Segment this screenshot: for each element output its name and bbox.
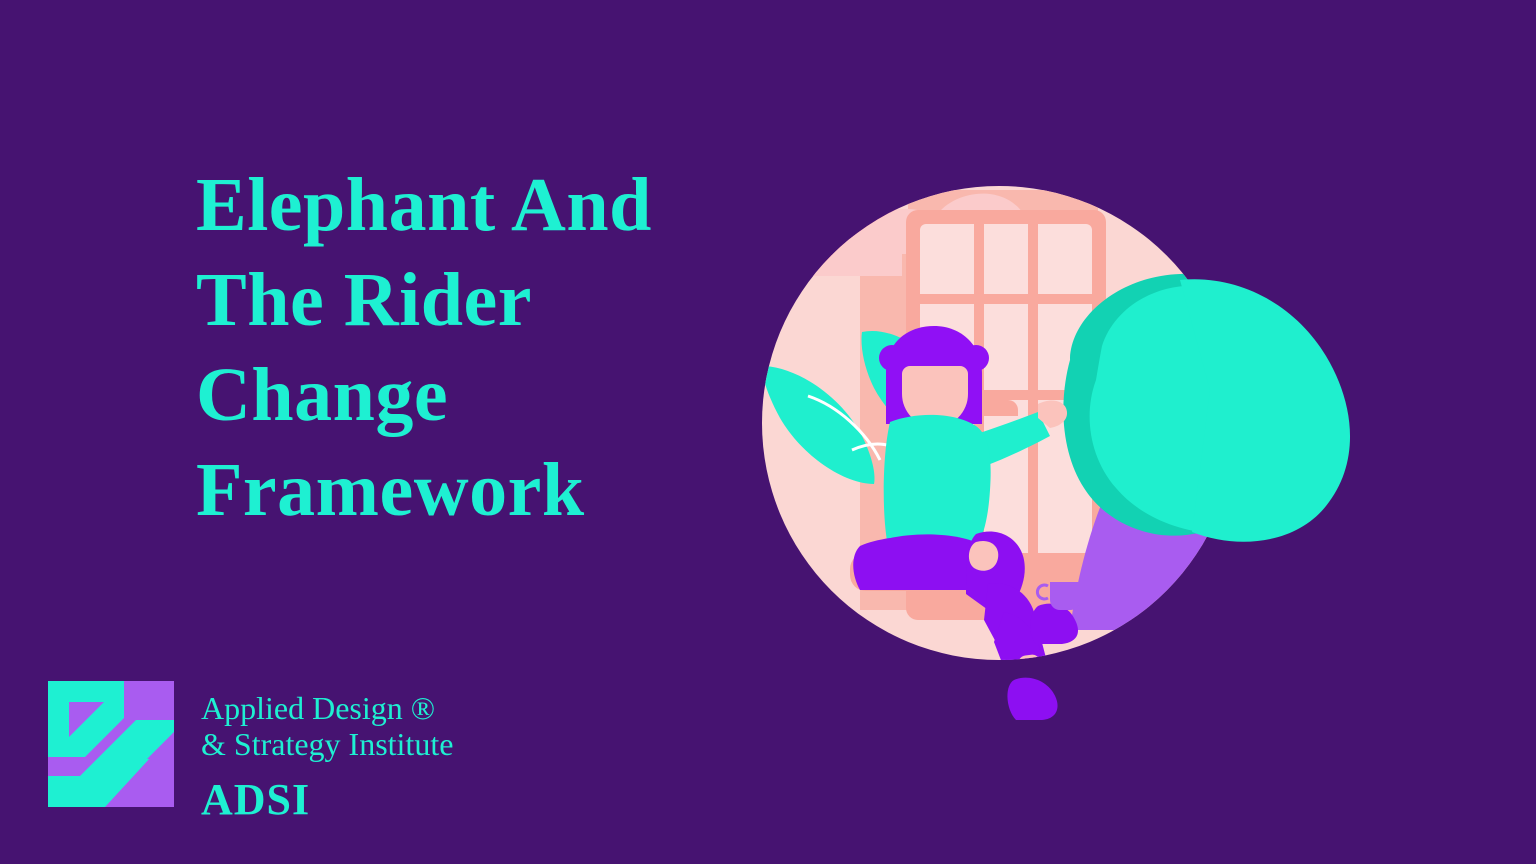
logo-acronym: ADSI [201,774,453,826]
person-on-windowsill-illustration-icon [740,150,1400,720]
logo-line-2: & Strategy Institute [201,726,453,762]
title-line-3: Change [196,348,756,443]
title-line-1: Elephant And [196,158,756,253]
cloud-lower [740,233,902,278]
person-hand-on-knee [969,541,998,571]
brand-logo: Applied Design ® & Strategy Institute AD… [48,681,453,826]
slide-canvas: Elephant And The Rider Change Framework … [0,0,1536,864]
logo-wordmark: Applied Design ® & Strategy Institute AD… [201,681,453,826]
title-line-2: The Rider [196,253,756,348]
logo-line-1: Applied Design ® [201,690,453,726]
title-line-4: Framework [196,443,756,538]
hero-illustration [740,150,1400,720]
person-torso [884,415,991,555]
page-title: Elephant And The Rider Change Framework [196,158,756,538]
adsi-logo-mark-icon [48,681,174,807]
person-lower-shoe [1007,678,1057,720]
